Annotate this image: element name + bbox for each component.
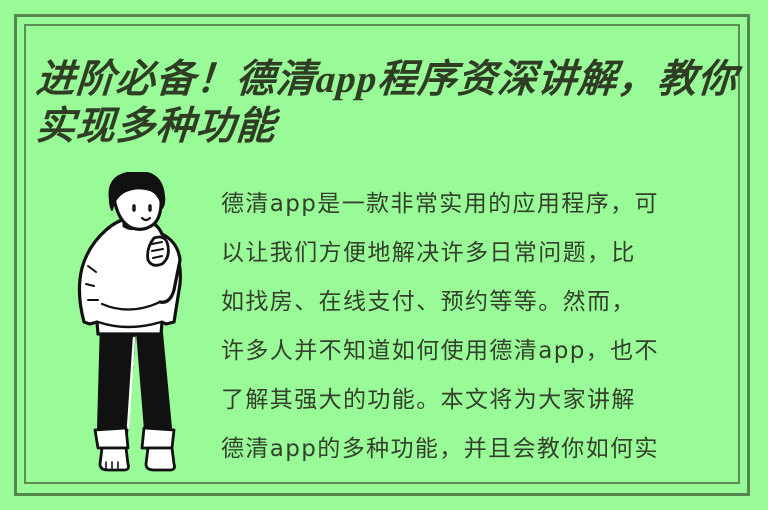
title-line-2: 实现多种功能 xyxy=(34,103,737,150)
body-line-1: 德清app是一款非常实用的应用程序，可 xyxy=(221,180,733,229)
article-body: 德清app是一款非常实用的应用程序，可 以让我们方便地解决许多日常问题，比 如找… xyxy=(221,180,733,480)
standing-person-thinking-icon xyxy=(62,172,212,480)
page-title: 进阶必备！德清app程序资深讲解，教你 实现多种功能 xyxy=(36,56,736,150)
body-line-5: 了解其强大的功能。本文将为大家讲解 xyxy=(221,376,733,425)
body-line-3: 如找房、在线支付、预约等等。然而， xyxy=(221,278,733,327)
body-line-2: 以让我们方便地解决许多日常问题，比 xyxy=(221,229,733,278)
body-line-6: 德清app的多种功能，并且会教你如何实 xyxy=(221,425,733,474)
person-illustration xyxy=(62,172,212,480)
article-cover-card: 进阶必备！德清app程序资深讲解，教你 实现多种功能 xyxy=(0,0,768,510)
body-line-4: 许多人并不知道如何使用德清app，也不 xyxy=(221,327,733,376)
title-line-1: 进阶必备！德清app程序资深讲解，教你 xyxy=(34,56,737,103)
